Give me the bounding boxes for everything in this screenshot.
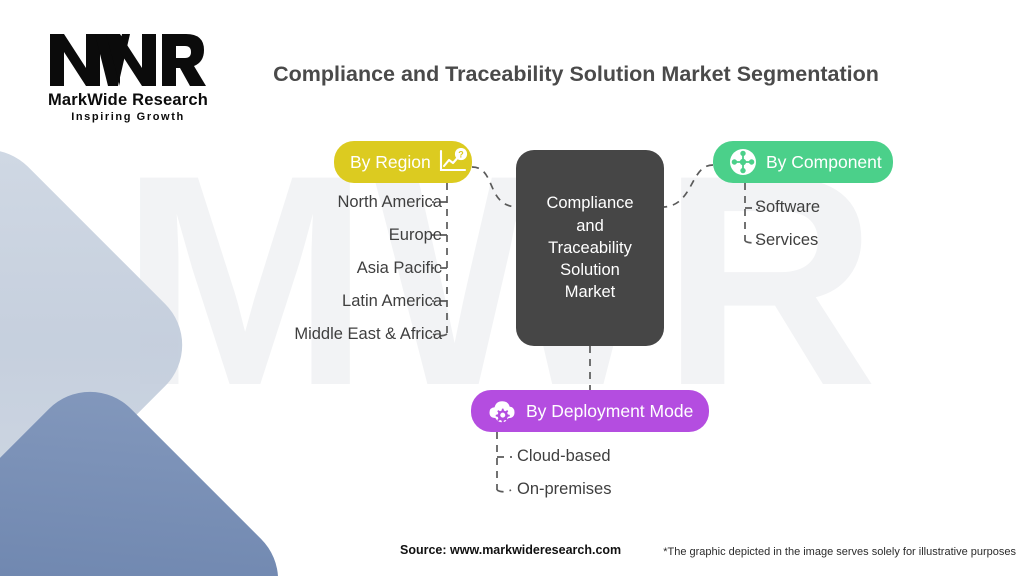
list-item[interactable]: Software	[755, 199, 820, 216]
mwr-monogram-icon	[48, 28, 208, 90]
network-nodes-icon	[729, 148, 757, 176]
branch-items-region: North America Europe Asia Pacific Latin …	[180, 194, 442, 359]
page-title: Compliance and Traceability Solution Mar…	[200, 62, 952, 87]
center-node-label: Compliance and Traceability Solution Mar…	[538, 192, 641, 303]
list-item[interactable]: Middle East & Africa	[180, 326, 442, 343]
infographic-canvas: MWR MarkWide Research Inspiring Growth C…	[0, 0, 1024, 576]
cloud-gear-icon	[487, 398, 517, 424]
branch-badge-component-label: By Component	[766, 152, 882, 173]
list-item[interactable]: Latin America	[180, 293, 442, 310]
branch-badge-region[interactable]: By Region ?	[334, 141, 472, 183]
brand-logo: MarkWide Research Inspiring Growth	[28, 28, 228, 123]
brand-tagline: Inspiring Growth	[28, 111, 228, 123]
list-item[interactable]: Services	[755, 232, 820, 249]
branch-badge-region-label: By Region	[350, 152, 431, 173]
list-item[interactable]: North America	[180, 194, 442, 211]
center-node: Compliance and Traceability Solution Mar…	[516, 150, 664, 346]
branch-items-component: Software Services	[755, 199, 820, 265]
list-item[interactable]: Asia Pacific	[180, 260, 442, 277]
branch-badge-component[interactable]: By Component	[713, 141, 893, 183]
branch-badge-deployment[interactable]: By Deployment Mode	[471, 390, 709, 432]
brand-name: MarkWide Research	[28, 91, 228, 110]
chart-growth-question-icon: ?	[438, 148, 468, 176]
list-item[interactable]: Europe	[180, 227, 442, 244]
branch-badge-deployment-label: By Deployment Mode	[526, 401, 693, 422]
svg-text:?: ?	[458, 149, 464, 159]
disclaimer-note: *The graphic depicted in the image serve…	[663, 546, 1016, 558]
branch-items-deployment: Cloud-based On-premises	[517, 448, 611, 514]
list-item[interactable]: Cloud-based	[517, 448, 611, 465]
list-item[interactable]: On-premises	[517, 481, 611, 498]
source-note: Source: www.markwideresearch.com	[400, 543, 621, 557]
